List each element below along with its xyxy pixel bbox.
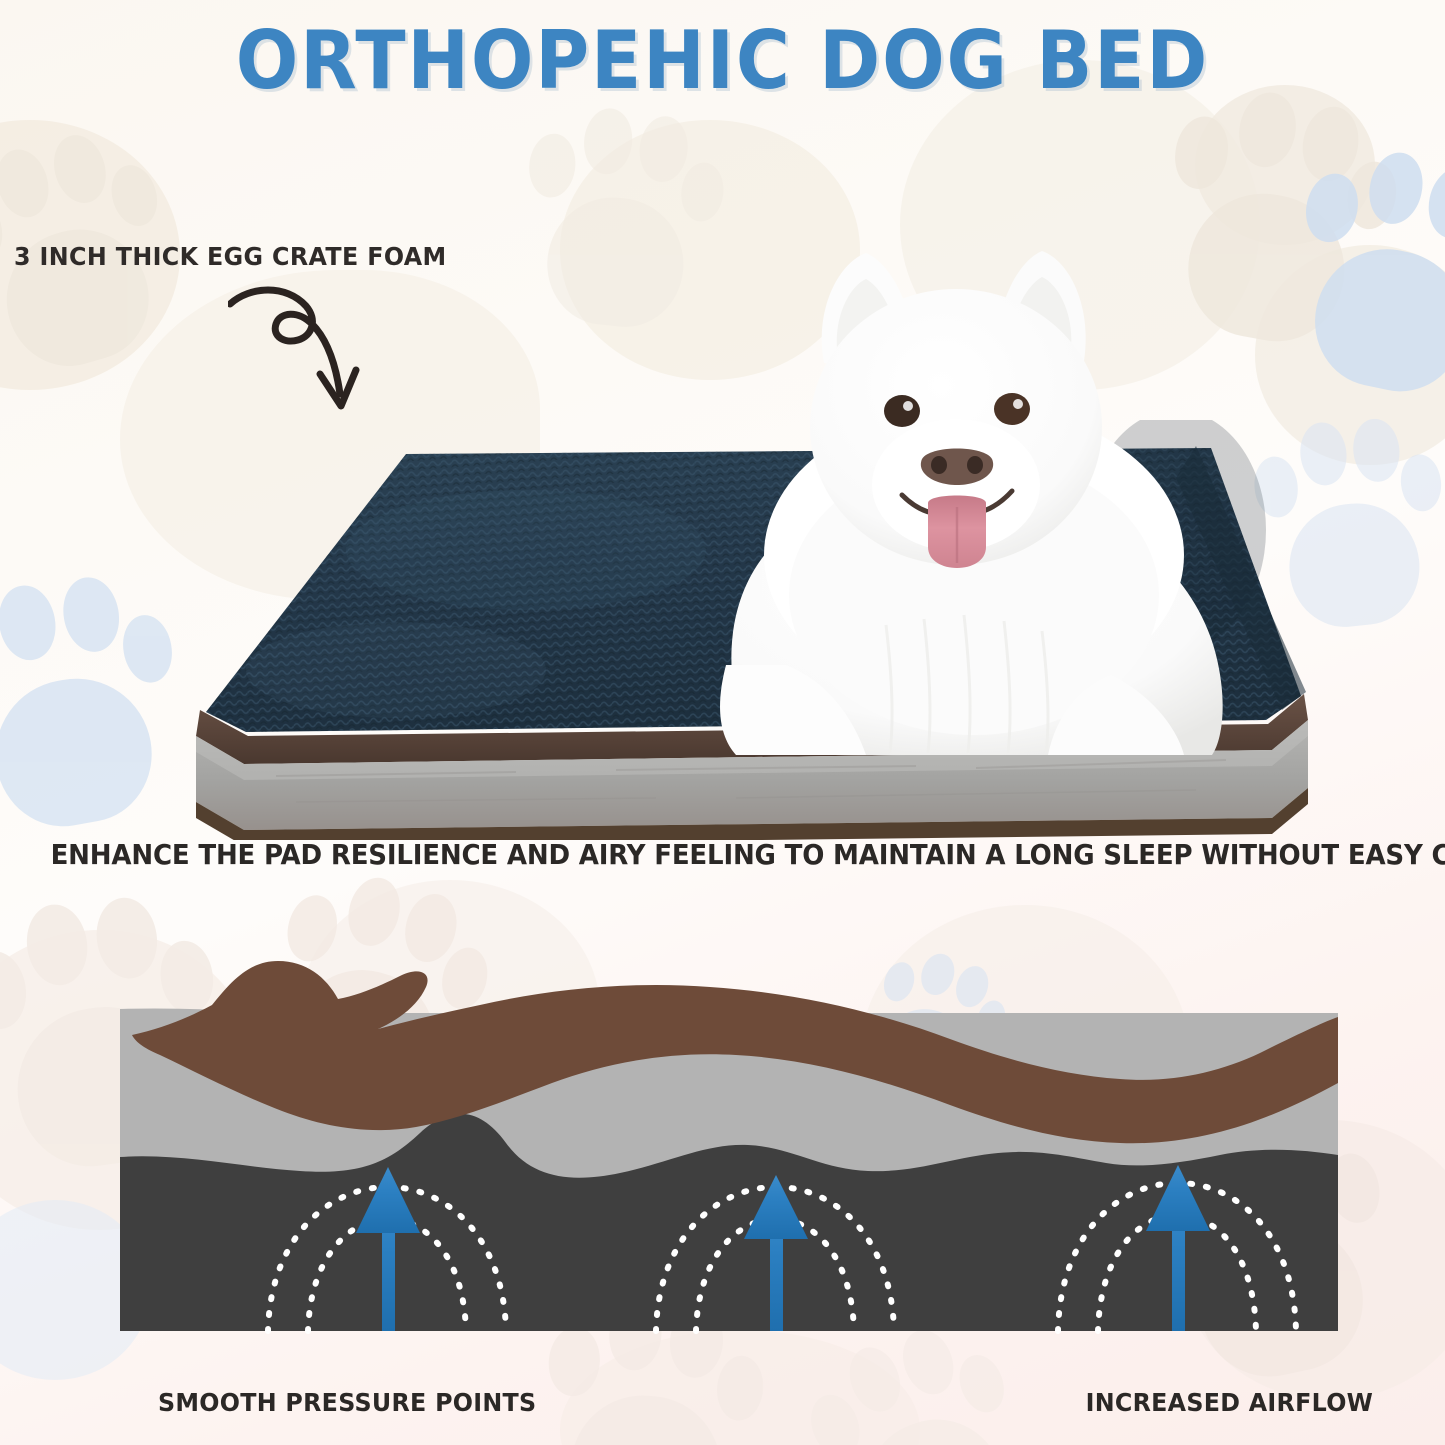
- label-smooth-pressure-points: SMOOTH PRESSURE POINTS: [158, 1388, 536, 1417]
- foam-thickness-callout: 3 INCH THICK EGG CRATE FOAM: [14, 242, 447, 271]
- label-increased-airflow: INCREASED AIRFLOW: [1086, 1388, 1374, 1417]
- curly-down-arrow-icon: [228, 282, 388, 432]
- product-photo-dog-on-bed: [96, 420, 1366, 840]
- page-title: ORTHOPEHIC DOG BED: [58, 14, 1387, 107]
- background-blob: [560, 1330, 920, 1445]
- foam-cross-section-diagram: [120, 955, 1338, 1335]
- pad-resilience-caption: ENHANCE THE PAD RESILIENCE AND AIRY FEEL…: [51, 838, 1395, 871]
- dog-illustration: [656, 195, 1296, 755]
- product-infographic-poster: ORTHOPEHIC DOG BED 3 INCH THICK EGG CRAT…: [0, 0, 1445, 1445]
